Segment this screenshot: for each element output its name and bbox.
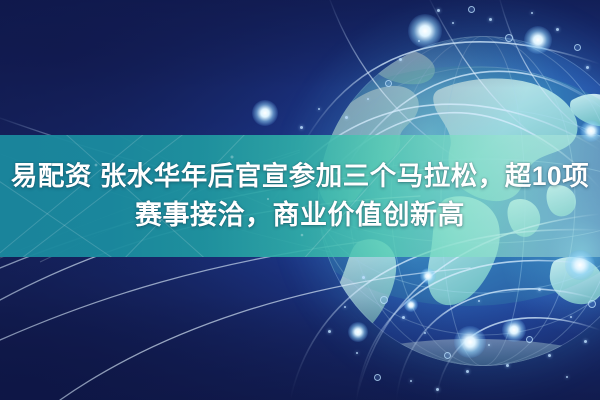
headline-line-2: 赛事接洽，商业价值创新高	[135, 198, 465, 234]
banner-image: 易配资 张水华年后官宣参加三个马拉松，超10项 赛事接洽，商业价值创新高	[0, 0, 600, 400]
headline-text-block: 易配资 张水华年后官宣参加三个马拉松，超10项 赛事接洽，商业价值创新高	[0, 135, 600, 257]
headline-line-1: 易配资 张水华年后官宣参加三个马拉松，超10项	[11, 159, 589, 194]
